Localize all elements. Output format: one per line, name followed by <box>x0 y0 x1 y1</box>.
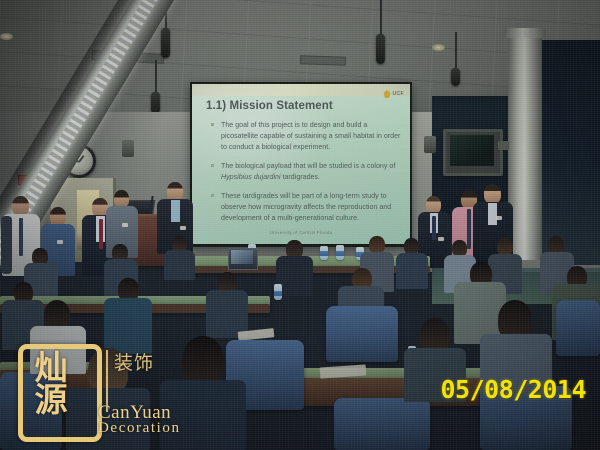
ceiling-speaker-4 <box>451 68 460 86</box>
monitor-screen <box>450 135 494 166</box>
person-shirt <box>488 203 497 225</box>
wall-speaker-left <box>122 140 134 157</box>
person-torso <box>104 298 152 354</box>
speaker-cable-2 <box>380 0 382 36</box>
camera-date-stamp: 05/08/2014 <box>440 375 586 404</box>
water-bottle <box>274 284 282 300</box>
ucf-logo-text: UCF <box>393 91 404 97</box>
slide-footer: University of Central Florida <box>192 230 410 235</box>
monitor-camera <box>498 141 509 150</box>
audience-laptop-screen <box>231 250 253 264</box>
person-torso <box>160 380 246 450</box>
recessed-light-2 <box>432 44 445 51</box>
audience-chair <box>0 372 62 450</box>
column-cap <box>504 28 546 38</box>
audience-chair <box>334 398 430 450</box>
bullet-italic: Hypsibius dujardini <box>221 173 281 181</box>
person-head <box>12 196 29 216</box>
ucf-logo: UCF <box>384 90 404 98</box>
name-badge <box>496 216 502 220</box>
bottle-label <box>274 291 282 296</box>
person-head <box>484 184 501 204</box>
structural-column <box>508 30 542 260</box>
bottle-label <box>336 251 344 256</box>
ceiling-vent-2 <box>300 55 346 66</box>
person-head <box>182 336 224 386</box>
person-torso <box>66 388 150 450</box>
bullet-text-after: tardigrades. <box>281 173 320 181</box>
right-window-dark <box>540 40 600 265</box>
bullet-text: The goal of this project is to design an… <box>221 121 400 151</box>
audience-chair <box>326 306 398 362</box>
ucf-pegasus-icon <box>384 90 391 98</box>
person-tie <box>467 209 471 249</box>
wall-speaker-right <box>424 136 436 153</box>
person-shirt <box>171 200 180 222</box>
person-torso <box>396 253 428 289</box>
person-tie <box>99 219 103 249</box>
speaker-cable-4 <box>455 32 457 72</box>
wall-mounted-monitor <box>443 129 503 176</box>
person-torso <box>30 326 86 374</box>
bullet-text: The biological payload that will be stud… <box>221 162 395 170</box>
slide-bullet: The goal of this project is to design an… <box>210 120 402 153</box>
person-tie <box>432 216 436 240</box>
ceiling-speaker-3 <box>151 92 160 114</box>
audience-chair <box>556 300 600 356</box>
slide-bullet: These tardigrades will be part of a long… <box>210 191 402 224</box>
slide-bullet: The biological payload that will be stud… <box>210 161 402 183</box>
name-badge <box>122 223 128 227</box>
projection-screen: UCF 1.1) Mission Statement The goal of t… <box>192 84 410 244</box>
person-torso <box>164 250 195 280</box>
recessed-light-1 <box>0 33 13 40</box>
bullet-text: These tardigrades will be part of a long… <box>221 192 391 222</box>
bottle-label <box>320 251 328 256</box>
slide-title: 1.1) Mission Statement <box>206 100 333 112</box>
ceiling-speaker-1 <box>161 28 170 58</box>
water-bottle <box>320 246 328 260</box>
conference-room-photo: UCF 1.1) Mission Statement The goal of t… <box>0 0 600 450</box>
person-tie <box>19 218 23 256</box>
water-bottle <box>336 245 344 260</box>
slide-bullet-list: The goal of this project is to design an… <box>210 120 402 232</box>
person-jacket <box>1 216 12 274</box>
ceiling-speaker-2 <box>376 34 385 64</box>
name-badge <box>57 240 63 244</box>
name-badge <box>438 237 444 241</box>
name-badge <box>180 226 186 230</box>
